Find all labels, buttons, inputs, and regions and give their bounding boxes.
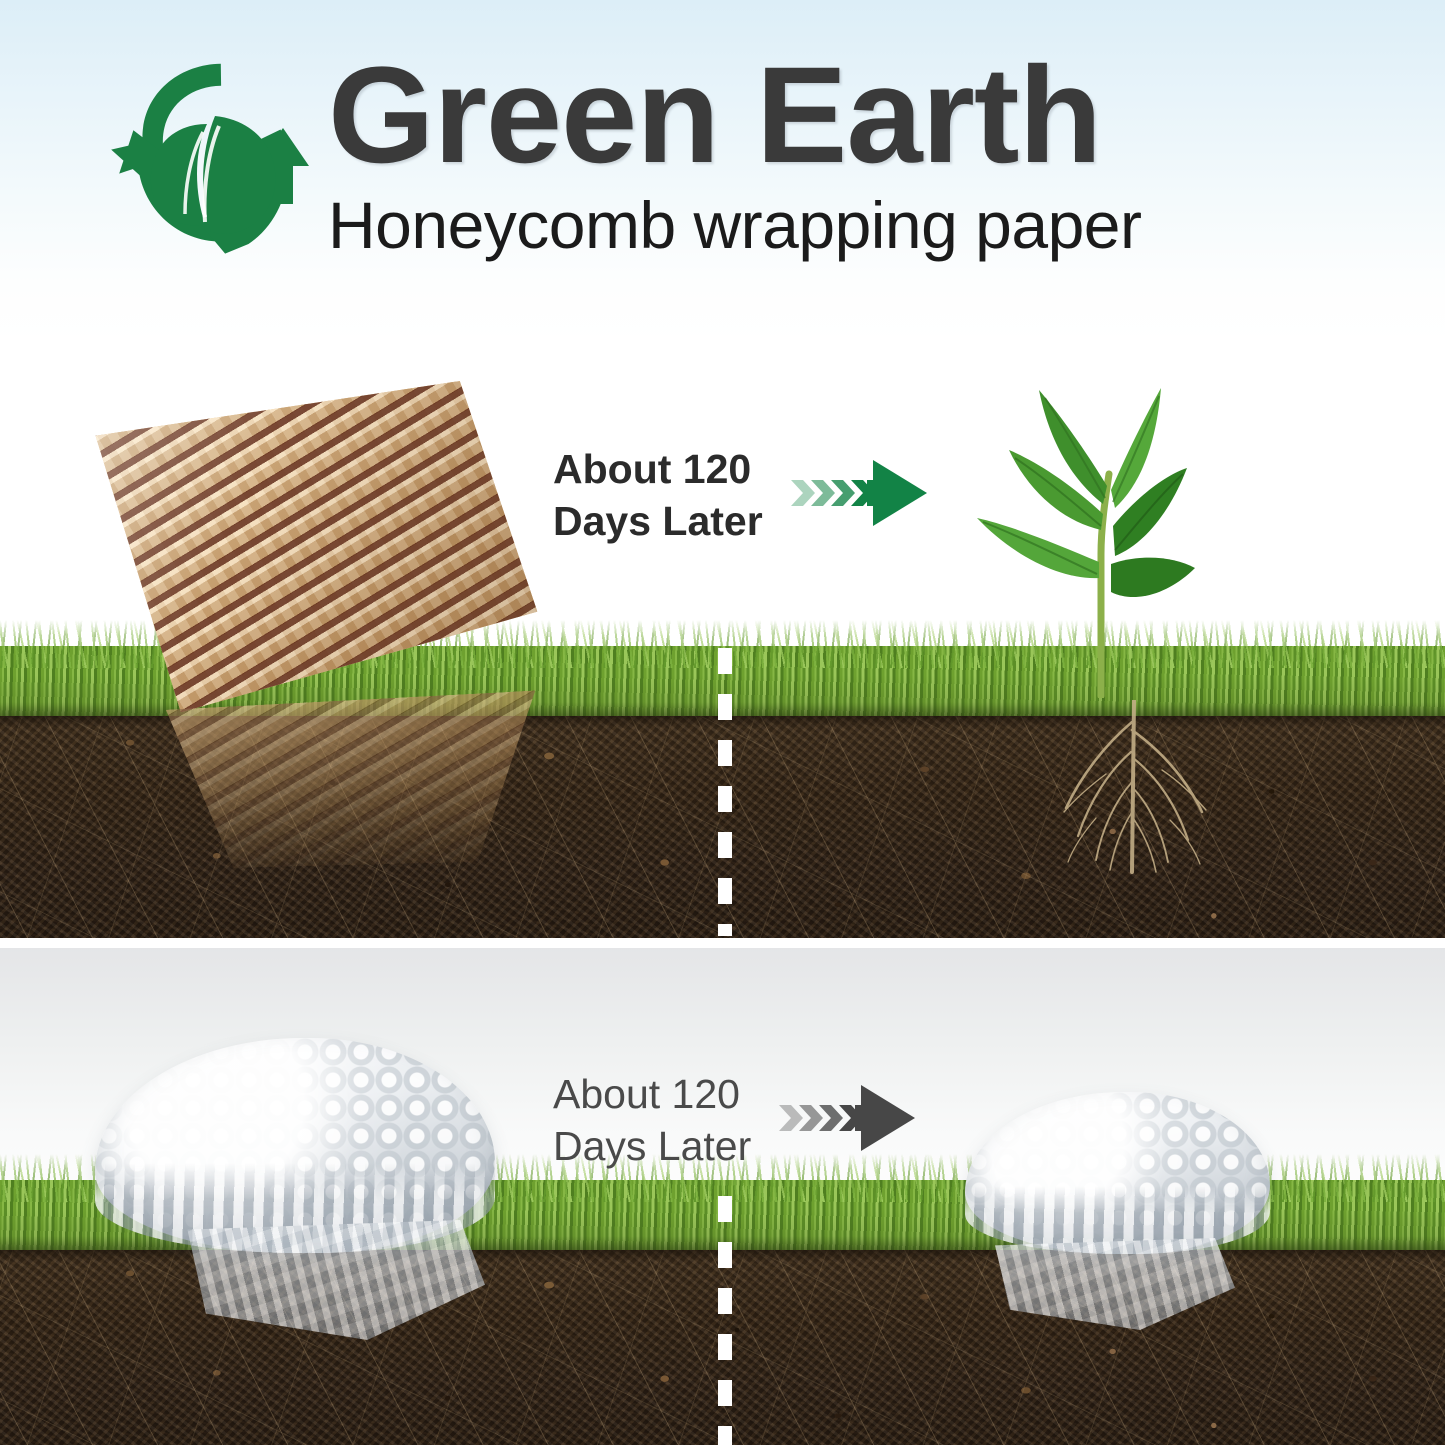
callout-120-days-bottom: About 120 Days Later: [553, 1068, 917, 1173]
right-arrow-icon: [789, 454, 929, 537]
callout-120-days-top: About 120 Days Later: [553, 443, 929, 548]
title-block: Green Earth Honeycomb wrapping paper: [328, 48, 1141, 261]
honeycomb-shading: [89, 377, 543, 718]
page-subtitle: Honeycomb wrapping paper: [328, 191, 1141, 261]
header-banner: Green Earth Honeycomb wrapping paper: [0, 0, 1445, 345]
infographic-page: Green Earth Honeycomb wrapping paper: [0, 0, 1445, 1445]
bubble-wrap-buried-film-left: [175, 1220, 485, 1340]
plastic-film-texture-right: [985, 1238, 1235, 1330]
page-title: Green Earth: [328, 52, 1141, 181]
vertical-dashed-divider: [718, 648, 732, 936]
vertical-dashed-divider-bottom: [718, 1196, 732, 1445]
right-arrow-icon-gray: [777, 1079, 917, 1162]
plastic-film-texture: [175, 1220, 485, 1340]
plastic-bubble-wrap-roll-unchanged: [965, 1092, 1270, 1254]
callout-line2: Days Later: [553, 495, 763, 547]
callout-number: 120: [683, 446, 751, 492]
panel-seam: [0, 938, 1445, 948]
bubble-wrap-buried-film-right: [985, 1238, 1235, 1330]
header-content: Green Earth Honeycomb wrapping paper: [95, 48, 1345, 293]
plant-root-system: [1010, 700, 1260, 875]
callout-number-bottom: 120: [672, 1071, 740, 1117]
callout-line2-bottom: Days Later: [553, 1120, 751, 1172]
callout-prefix-bottom: About: [553, 1071, 672, 1117]
callout-prefix: About: [553, 446, 683, 492]
recycle-leaves-icon: [95, 54, 310, 264]
callout-text-top: About 120 Days Later: [553, 443, 763, 548]
honeycomb-wrapping-paper-sheet: [89, 377, 543, 718]
callout-text-bottom: About 120 Days Later: [553, 1068, 751, 1173]
green-seedling-plant: [955, 378, 1265, 698]
